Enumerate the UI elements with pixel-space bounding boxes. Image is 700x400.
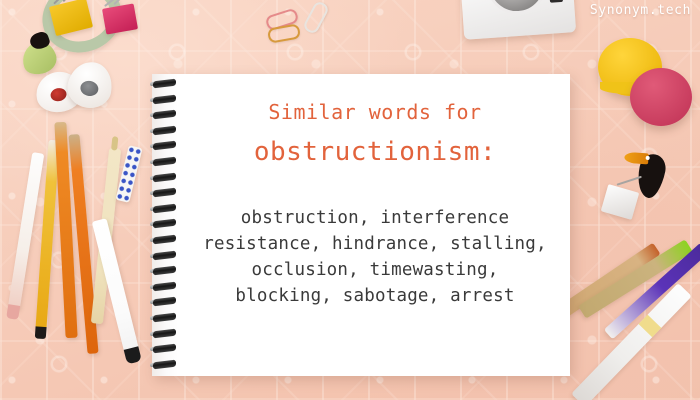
spiral-ring (150, 283, 177, 290)
spiral-ring (150, 127, 177, 134)
spiral-ring-front (153, 203, 176, 213)
spiral-ring-front (153, 328, 176, 338)
spiral-ring (150, 298, 177, 305)
synonym-list: obstruction, interferenceresistance, hin… (182, 205, 568, 309)
spiral-ring-front (153, 344, 176, 354)
spiral-binding (150, 80, 180, 372)
spiral-ring-front (153, 94, 176, 104)
spiral-ring-front (153, 219, 176, 229)
headword: obstructionism: (182, 137, 568, 167)
spiral-ring (150, 80, 177, 87)
spiral-ring-front (153, 297, 176, 307)
spiral-ring-front (153, 266, 176, 276)
macaron-pink (630, 68, 692, 126)
spiral-ring (150, 267, 177, 274)
synonym-line: obstruction, interference (182, 205, 568, 231)
spiral-ring (150, 142, 177, 149)
camera-shutter-button (549, 0, 563, 3)
spiral-ring (150, 220, 177, 227)
spiral-ring (150, 158, 177, 165)
notebook-text-block: Similar words for obstructionism: obstru… (182, 74, 568, 376)
spiral-ring (150, 252, 177, 259)
spiral-ring-front (153, 141, 176, 151)
site-watermark: Synonym.tech (590, 3, 691, 18)
synonym-line: resistance, hindrance, stalling, (182, 231, 568, 257)
spiral-ring (150, 361, 177, 368)
spiral-ring (150, 205, 177, 212)
spiral-ring (150, 330, 177, 337)
spiral-ring-front (153, 281, 176, 291)
spiral-ring (150, 236, 177, 243)
synonym-line: blocking, sabotage, arrest (182, 283, 568, 309)
spiral-ring-front (153, 250, 176, 260)
synonym-line: occlusion, timewasting, (182, 257, 568, 283)
spiral-ring-front (153, 157, 176, 167)
spiral-ring-front (153, 125, 176, 135)
spiral-ring (150, 314, 177, 321)
spiral-ring-front (153, 313, 176, 323)
spiral-ring-front (153, 235, 176, 245)
spiral-ring-front (153, 79, 176, 89)
spiral-ring-front (153, 110, 176, 120)
spiral-ring-front (153, 172, 176, 182)
spiral-ring (150, 189, 177, 196)
spiral-ring (150, 345, 177, 352)
spiral-ring-front (153, 188, 176, 198)
spiral-ring (150, 111, 177, 118)
page-title: Similar words for (182, 100, 568, 124)
camera-lens-icon (485, 0, 549, 16)
spiral-ring-front (153, 359, 176, 369)
desk-scene: Similar words for obstructionism: obstru… (0, 0, 700, 400)
spiral-ring (150, 96, 177, 103)
binder-clip-pink (102, 3, 138, 34)
spiral-ring (150, 174, 177, 181)
